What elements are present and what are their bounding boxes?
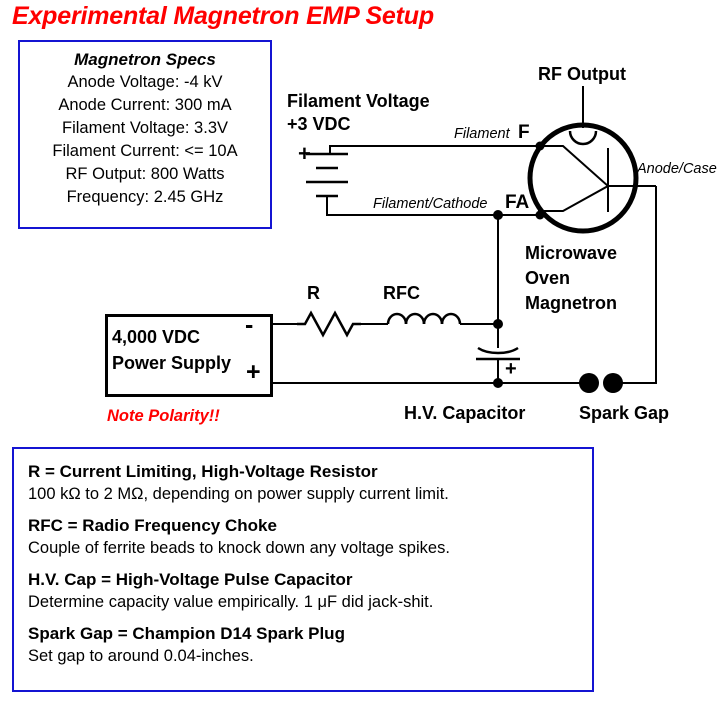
junction-dot-filament (536, 142, 545, 151)
tube-filament-element (538, 146, 608, 211)
magnetron-tube-envelope (530, 125, 636, 231)
legend-sub-resistor: 100 kΩ to 2 MΩ, depending on power suppl… (28, 483, 592, 506)
junction-dot-fa-node (493, 210, 503, 220)
legend-head-spark-gap: Spark Gap = Champion D14 Spark Plug (28, 623, 592, 645)
rf-choke-label: RFC (383, 283, 420, 304)
spark-gap-label: Spark Gap (579, 403, 669, 424)
filament-pin-designator: F (518, 122, 530, 144)
rf-choke-symbol (388, 314, 460, 324)
resistor-symbol (297, 313, 361, 335)
legend-item-choke: RFC = Radio Frequency Choke Couple of fe… (28, 515, 592, 560)
power-supply-label: 4,000 VDC Power Supply (112, 324, 231, 376)
hv-capacitor-label: H.V. Capacitor (404, 403, 525, 424)
power-supply-line2: Power Supply (112, 353, 231, 373)
diagram-canvas: Experimental Magnetron EMP Setup Magnetr… (0, 0, 723, 706)
legend-head-resistor: R = Current Limiting, High-Voltage Resis… (28, 461, 592, 483)
legend-head-choke: RFC = Radio Frequency Choke (28, 515, 592, 537)
filament-cathode-pin-label: Filament/Cathode (373, 196, 487, 212)
filament-cathode-pin-designator: FA (505, 192, 529, 214)
note-polarity-warning: Note Polarity!! (107, 407, 220, 426)
filament-supply-label: Filament Voltage +3 VDC (287, 90, 430, 136)
filament-supply-label-line2: +3 VDC (287, 114, 351, 134)
spark-gap-symbol (579, 373, 623, 393)
legend-item-capacitor: H.V. Cap = High-Voltage Pulse Capacitor … (28, 569, 592, 614)
capacitor-plus-sign: + (505, 358, 517, 380)
junction-dot-filament-cathode (536, 211, 545, 220)
power-supply-line1: 4,000 VDC (112, 327, 200, 347)
legend-sub-spark-gap: Set gap to around 0.04-inches. (28, 645, 592, 668)
legend-item-spark-gap: Spark Gap = Champion D14 Spark Plug Set … (28, 623, 592, 668)
legend-item-resistor: R = Current Limiting, High-Voltage Resis… (28, 461, 592, 506)
anode-case-label: Anode/Case (637, 161, 717, 177)
filament-supply-label-line1: Filament Voltage (287, 91, 430, 111)
resistor-label: R (307, 283, 320, 304)
power-supply-positive-terminal: + (246, 359, 261, 385)
filament-pin-label: Filament (454, 126, 510, 142)
power-supply-negative-terminal: - (245, 314, 253, 336)
legend-panel: R = Current Limiting, High-Voltage Resis… (12, 447, 594, 692)
legend-head-capacitor: H.V. Cap = High-Voltage Pulse Capacitor (28, 569, 592, 591)
junction-dot-capacitor-bottom (493, 378, 503, 388)
magnetron-name-line3: Magnetron (525, 293, 617, 313)
rf-output-label: RF Output (538, 64, 626, 85)
magnetron-name-label: Microwave Oven Magnetron (525, 241, 617, 316)
magnetron-name-line1: Microwave (525, 243, 617, 263)
rf-output-lead (570, 86, 596, 144)
legend-sub-choke: Couple of ferrite beads to knock down an… (28, 537, 592, 560)
legend-sub-capacitor: Determine capacity value empirically. 1 … (28, 591, 592, 614)
battery-plus-sign: + (298, 141, 311, 166)
magnetron-name-line2: Oven (525, 268, 570, 288)
